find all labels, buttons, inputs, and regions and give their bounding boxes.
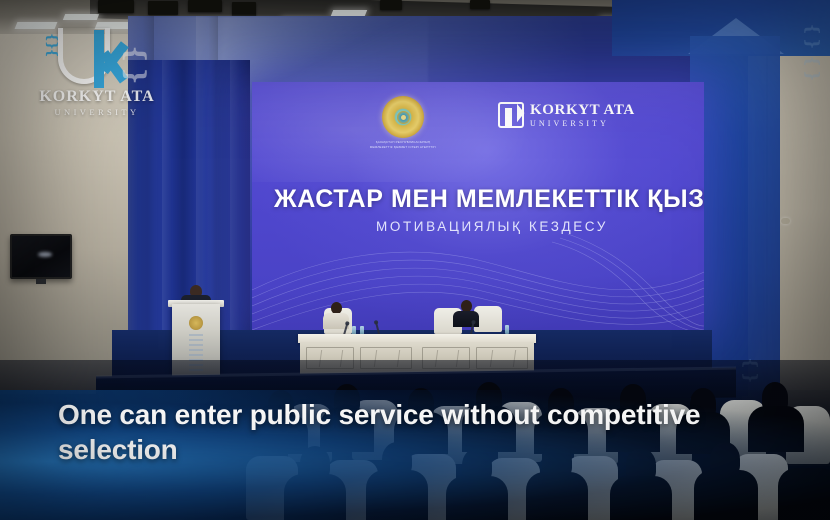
- stage-lighting-rig: [98, 0, 134, 13]
- water-bottle-icon: [505, 325, 509, 334]
- podium-emblem-icon: [189, 316, 203, 330]
- tv-mount: [36, 279, 46, 284]
- stage-lighting-rig: [470, 0, 490, 9]
- emblem-caption: ҚАЗАҚСТАН РЕСПУБЛИКАСЫНЫҢ МЕМЛЕКЕТТІК ҚЫ…: [324, 140, 482, 150]
- stage-lighting-rig: [380, 0, 402, 10]
- projection-screen: ҚАЗАҚСТАН РЕСПУБЛИКАСЫНЫҢ МЕМЛЕКЕТТІК ҚЫ…: [252, 82, 704, 330]
- korkyt-ata-k-mark-icon: [498, 102, 524, 128]
- kazakh-ornament-icon: ❴❵: [804, 22, 821, 51]
- caption-headline: One can enter public service without com…: [58, 397, 778, 468]
- panelist-body: [453, 311, 479, 327]
- stage-lighting-rig: [232, 2, 256, 17]
- recessed-ceiling-light: [63, 14, 99, 20]
- stage-lighting-rig: [148, 1, 178, 15]
- door-handle: [781, 218, 790, 224]
- watermark-swirl-icon: ❴❵: [123, 43, 149, 87]
- watermark-subtitle: UNIVERSITY: [38, 107, 156, 117]
- watermark-logo: ❴❵❴ ❴❵ KORKYT ATA UNIVERSITY: [38, 26, 156, 126]
- kazakh-ornament-icon: ❴❵: [804, 54, 821, 83]
- screen-university-logo: KORKYT ATA UNIVERSITY: [498, 102, 635, 128]
- news-photo: ❴❵ ❴❵ ❴❵ ❴❵ ҚАЗАҚСТАН РЕСПУБЛИКАСЫНЫҢ МЕ…: [0, 0, 830, 520]
- kazakhstan-state-emblem-icon: [382, 96, 424, 138]
- screen-logo-name: KORKYT ATA: [530, 103, 635, 118]
- slide-title: ЖАСТАР МЕН МЕМЛЕКЕТТІК ҚЫЗМЕ: [274, 185, 704, 214]
- watermark-name: KORKYT ATA: [38, 88, 156, 106]
- screen-logo-subtitle: UNIVERSITY: [530, 120, 635, 128]
- slide-subtitle: МОТИВАЦИЯЛЫҚ КЕЗДЕСУ: [376, 219, 608, 234]
- wall-mounted-television: [10, 234, 72, 279]
- stage-lighting-rig: [188, 0, 222, 12]
- kazakh-ornament-swirl-icon: ❴❵❴: [44, 32, 60, 56]
